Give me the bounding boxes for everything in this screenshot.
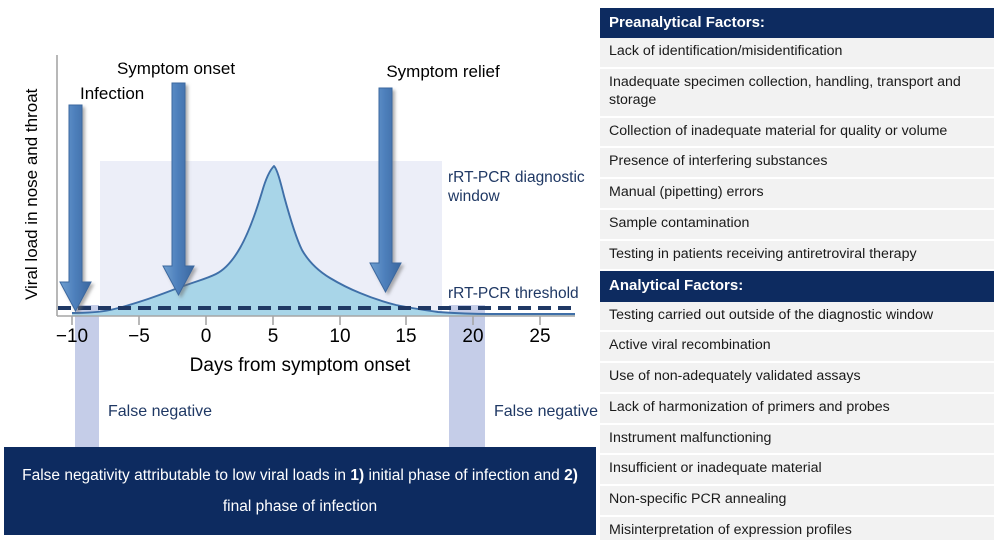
summary-banner-text: False negativity attributable to low vir… [18, 460, 582, 522]
false-negative-label-left: False negative [108, 403, 212, 421]
x-tick-label-6: 20 [462, 326, 483, 348]
threshold-label: rRT-PCR threshold [448, 284, 579, 303]
table-row: Use of non-adequately validated assays [600, 363, 994, 394]
table-row: Instrument malfunctioning [600, 425, 994, 456]
table-row: Misinterpretation of expression profiles [600, 517, 994, 540]
banner-bold1: 1) [350, 467, 364, 484]
annotation-infection: Infection [80, 84, 144, 104]
x-tick-label-4: 10 [329, 326, 350, 348]
chart-canvas [0, 0, 597, 450]
x-tick-label-3: 5 [268, 326, 279, 348]
table-row: Lack of harmonization of primers and pro… [600, 394, 994, 425]
diagnostic-window-label-line1: rRT-PCR diagnostic [448, 168, 596, 187]
table-row: Non-specific PCR annealing [600, 486, 994, 517]
x-axis-title: Days from symptom onset [190, 355, 411, 377]
diagnostic-window-label-line2: window [448, 187, 596, 206]
table-row: Inadequate specimen collection, handling… [600, 69, 994, 118]
table-row: Sample contamination [600, 210, 994, 241]
analytical-factors-header: Analytical Factors: [600, 271, 994, 301]
banner-bold2: 2) [564, 467, 578, 484]
banner-part2: initial phase of infection and [364, 467, 564, 484]
annotation-symptom-onset: Symptom onset [117, 59, 235, 79]
preanalytical-factors-header: Preanalytical Factors: [600, 8, 994, 38]
summary-banner: False negativity attributable to low vir… [4, 447, 596, 535]
x-tick-label-0: −10 [56, 326, 88, 348]
x-tick-label-5: 15 [395, 326, 416, 348]
table-row: Presence of interfering substances [600, 148, 994, 179]
table-row: Testing in patients receiving antiretrov… [600, 241, 994, 270]
table-row: Insufficient or inadequate material [600, 455, 994, 486]
figure-root: Viral load in nose and throat Infection … [0, 0, 994, 540]
table-row: Manual (pipetting) errors [600, 179, 994, 210]
factors-tables: Preanalytical Factors: Lack of identific… [600, 8, 994, 540]
analytical-factors-table: Analytical Factors: Testing carried out … [600, 271, 994, 540]
x-tick-label-7: 25 [529, 326, 550, 348]
diagnostic-window-label: rRT-PCR diagnostic window [448, 168, 596, 207]
table-row: Collection of inadequate material for qu… [600, 118, 994, 149]
annotation-symptom-relief: Symptom relief [386, 62, 499, 82]
x-tick-label-2: 0 [201, 326, 212, 348]
banner-part1: False negativity attributable to low vir… [22, 467, 350, 484]
infection-arrow-icon [60, 105, 91, 311]
table-row: Active viral recombination [600, 332, 994, 363]
banner-part3: final phase of infection [223, 498, 377, 515]
false-negative-label-right: False negative [494, 403, 598, 421]
table-row: Lack of identification/misidentification [600, 38, 994, 69]
preanalytical-factors-table: Preanalytical Factors: Lack of identific… [600, 8, 994, 269]
table-row: Testing carried out outside of the diagn… [600, 302, 994, 333]
y-axis-title: Viral load in nose and throat [22, 89, 42, 300]
x-tick-label-1: −5 [128, 326, 150, 348]
